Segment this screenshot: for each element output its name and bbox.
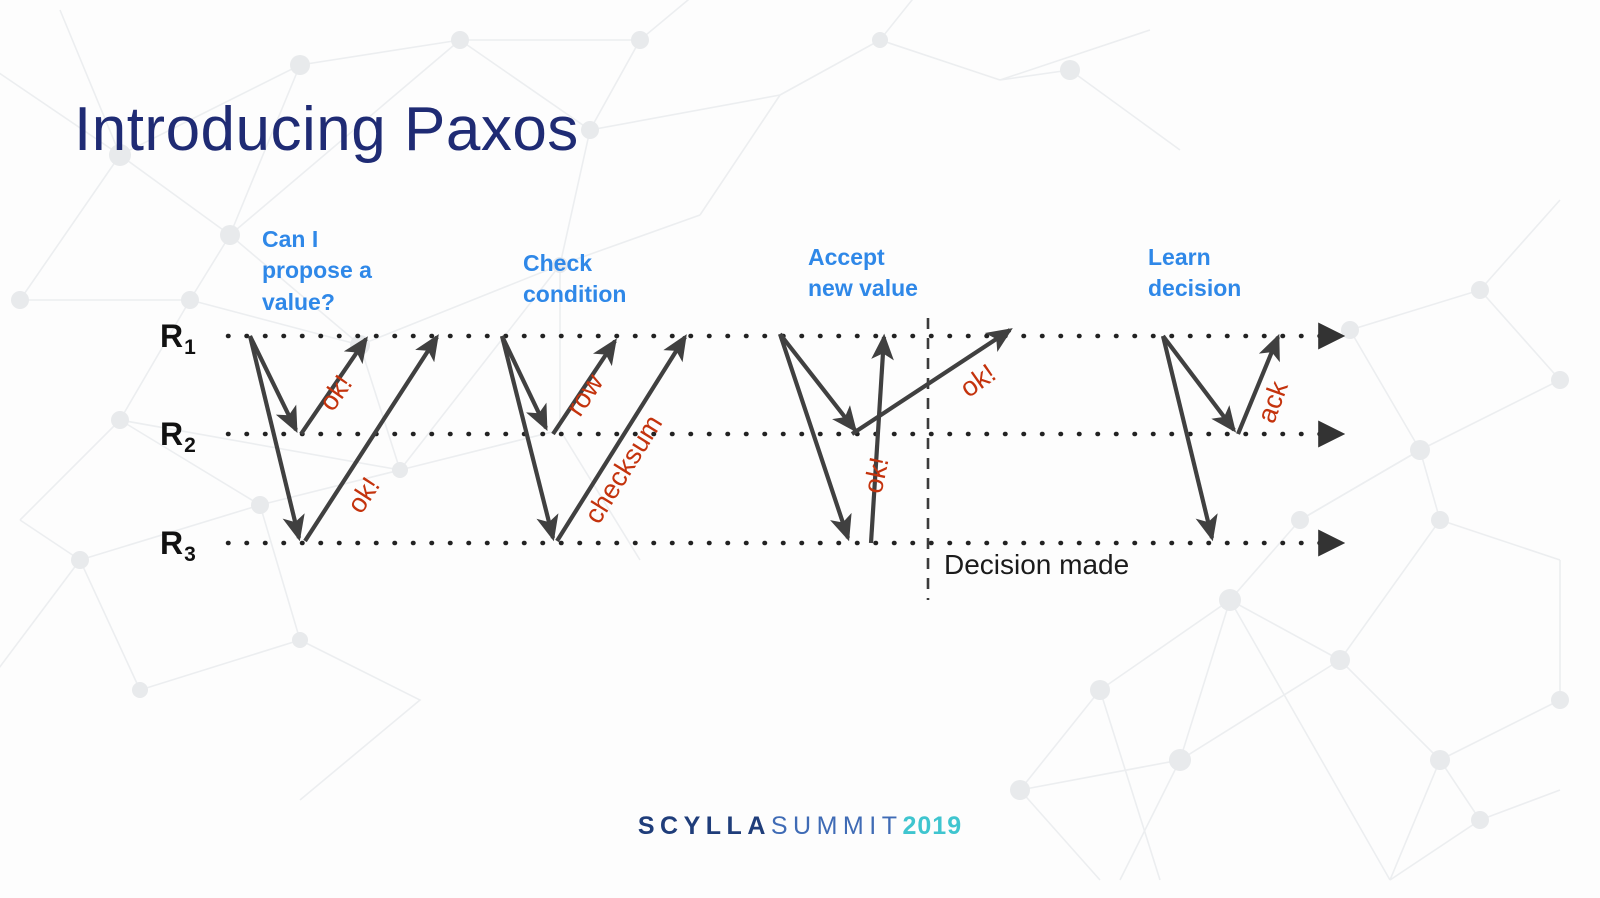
arrow-g1-req-r2 [250,336,296,430]
logo-year: 2019 [902,812,962,840]
logo-summit: SUMMIT [771,812,903,840]
phase-label-propose: Can I propose a value? [262,224,372,318]
arrow-g3-ok-r3 [871,337,884,543]
decision-made-caption: Decision made [944,549,1129,581]
message-label-g2-checksum: checksum [578,410,668,529]
phase-label-learn: Learn decision [1148,242,1241,305]
message-arrows [250,330,1278,543]
replica-label-r3: R3 [160,525,195,562]
replica-index: 3 [184,543,196,566]
replica-name: R [160,525,183,561]
arrow-g1-req-r3 [250,336,299,538]
arrow-g3-req-r2 [780,334,855,430]
phase-label-check: Check condition [523,248,626,311]
replica-index: 1 [184,336,196,359]
slide-canvas: Introducing Paxos ok!ok!rowchecksumok!ok… [0,0,1600,898]
arrow-g2-req-r3 [502,336,553,538]
paxos-sequence-diagram: ok!ok!rowchecksumok!ok!ack [0,0,1600,898]
message-label-g1-ok-r3: ok! [341,472,386,519]
message-label-g3-ok-r3: ok! [858,454,895,495]
replica-name: R [160,416,183,452]
replica-timelines [228,336,1320,543]
phase-label-accept: Accept new value [808,242,918,305]
scylla-summit-logo: SCYLLASUMMIT2019 [0,812,1600,841]
replica-name: R [160,318,183,354]
message-label-g3-ok-r2: ok! [954,358,1001,403]
logo-scylla: SCYLLA [638,812,771,840]
arrow-g2-req-r2 [502,336,546,428]
replica-label-r1: R1 [160,318,195,355]
replica-index: 2 [184,434,196,457]
replica-label-r2: R2 [160,416,195,453]
message-labels: ok!ok!rowchecksumok!ok!ack [313,358,1294,529]
arrow-g2-checksum [557,337,685,541]
